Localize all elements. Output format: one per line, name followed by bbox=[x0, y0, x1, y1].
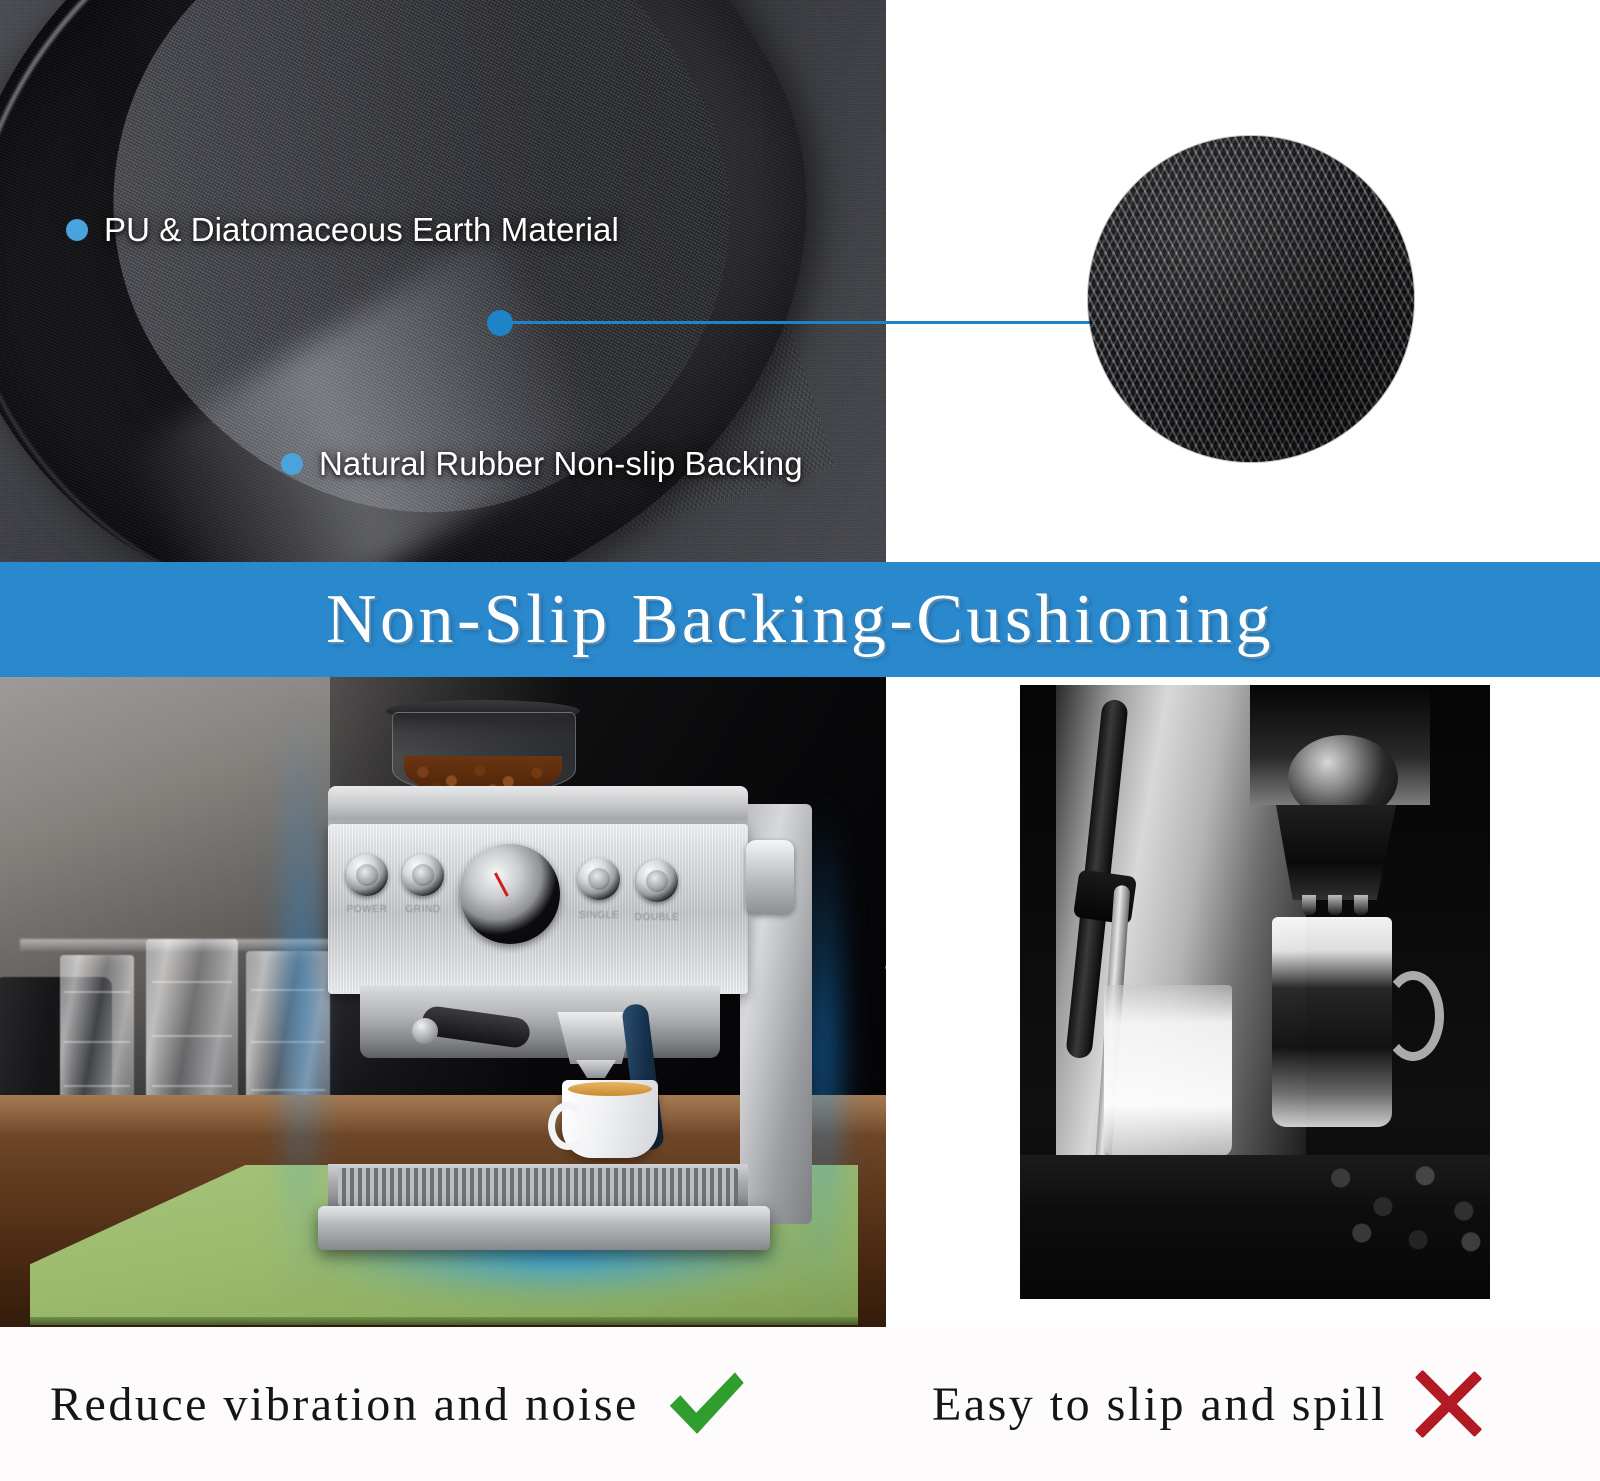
single-shot-button[interactable] bbox=[578, 858, 620, 900]
comparison-section: POWER GRIND SINGLE DOUBLE VS bbox=[0, 677, 1600, 1327]
right-scene-pane bbox=[886, 677, 1600, 1327]
feature-label-text: Natural Rubber Non-slip Backing bbox=[319, 445, 803, 483]
grind-icon bbox=[412, 864, 434, 886]
bullet-dot-icon bbox=[66, 219, 88, 241]
double-shot-icon bbox=[646, 870, 668, 892]
portafilter-spout bbox=[576, 1060, 616, 1078]
feature-label-text: PU & Diatomaceous Earth Material bbox=[104, 211, 619, 249]
green-mat-edge bbox=[30, 1317, 858, 1325]
product-infographic: PU & Diatomaceous Earth Material Natural… bbox=[0, 0, 1600, 1481]
left-scene-photo: POWER GRIND SINGLE DOUBLE bbox=[0, 677, 886, 1327]
check-icon bbox=[661, 1360, 749, 1448]
steam-wand-tip bbox=[412, 1018, 438, 1044]
machine-base bbox=[318, 1206, 770, 1250]
double-shot-button-label: DOUBLE bbox=[627, 912, 687, 923]
bullet-dot-icon bbox=[281, 453, 303, 475]
captions-row: Reduce vibration and noise Easy to slip … bbox=[0, 1327, 1600, 1481]
grind-button[interactable] bbox=[402, 854, 444, 896]
bw-spouts bbox=[1298, 895, 1374, 915]
banner-title: Non-Slip Backing-Cushioning bbox=[326, 585, 1274, 655]
grind-button-label: GRIND bbox=[393, 904, 453, 915]
double-shot-button[interactable] bbox=[636, 860, 678, 902]
bw-latte-glass bbox=[1272, 917, 1392, 1127]
caption-good-text: Reduce vibration and noise bbox=[50, 1377, 639, 1432]
power-icon bbox=[356, 864, 378, 886]
bw-milk-glass bbox=[1104, 985, 1232, 1157]
caption-bad-text: Easy to slip and spill bbox=[932, 1377, 1387, 1432]
steam-knob bbox=[746, 840, 794, 914]
caption-bad: Easy to slip and spill bbox=[932, 1327, 1487, 1481]
power-button[interactable] bbox=[346, 854, 388, 896]
weave-shading bbox=[1088, 136, 1414, 462]
pressure-gauge bbox=[460, 844, 560, 944]
feature-label-rubber-backing: Natural Rubber Non-slip Backing bbox=[281, 445, 803, 483]
espresso-machine: POWER GRIND SINGLE DOUBLE bbox=[300, 712, 830, 1292]
callout-leader-line bbox=[500, 321, 1112, 324]
bw-latte-glass-handle bbox=[1382, 971, 1444, 1061]
feature-label-pu-diatomaceous: PU & Diatomaceous Earth Material bbox=[66, 211, 619, 249]
bw-coffee-beans bbox=[1316, 1145, 1490, 1255]
material-detail-section: PU & Diatomaceous Earth Material Natural… bbox=[0, 0, 1600, 562]
cross-icon bbox=[1409, 1365, 1487, 1443]
power-button-label: POWER bbox=[337, 904, 397, 915]
single-shot-icon bbox=[588, 868, 610, 890]
single-shot-button-label: SINGLE bbox=[569, 910, 629, 921]
bw-group-head bbox=[1276, 805, 1396, 900]
cup-handle bbox=[548, 1102, 588, 1150]
caption-good: Reduce vibration and noise bbox=[50, 1327, 749, 1481]
drip-tray bbox=[328, 1164, 748, 1210]
section-banner: Non-Slip Backing-Cushioning bbox=[0, 562, 1600, 677]
right-scene-photo bbox=[1020, 685, 1490, 1299]
weave-zoom-circle bbox=[1088, 136, 1414, 462]
espresso-crema bbox=[568, 1082, 652, 1096]
